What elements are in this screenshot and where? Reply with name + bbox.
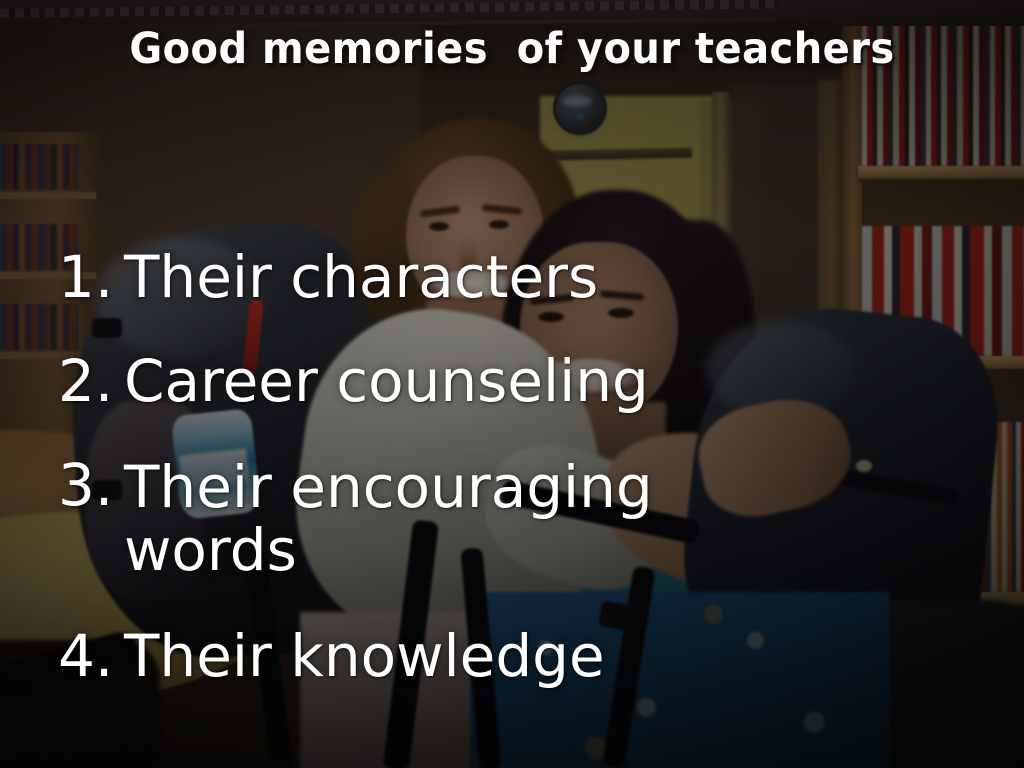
list-item: 1. Their characters [58, 248, 818, 306]
numbered-list: 1. Their characters 2. Career counseling… [58, 248, 818, 685]
list-item-number: 4. [58, 627, 124, 685]
presentation-slide: Good memories of your teachers 1. Their … [0, 0, 1024, 768]
list-item-text: Career counseling [124, 352, 724, 410]
slide-title: Good memories of your teachers [36, 24, 988, 74]
list-item-number: 2. [58, 352, 124, 410]
list-item-text: Their knowledge [124, 627, 724, 685]
list-item: 3. Their encouraging words [58, 456, 818, 581]
slide-text-layer: Good memories of your teachers 1. Their … [0, 0, 1024, 768]
list-item-number: 1. [58, 248, 124, 306]
list-item: 2. Career counseling [58, 352, 818, 410]
list-item-number: 3. [58, 456, 124, 514]
list-item-text: Their encouraging words [124, 456, 724, 581]
list-item: 4. Their knowledge [58, 627, 818, 685]
list-item-text: Their characters [124, 248, 724, 306]
